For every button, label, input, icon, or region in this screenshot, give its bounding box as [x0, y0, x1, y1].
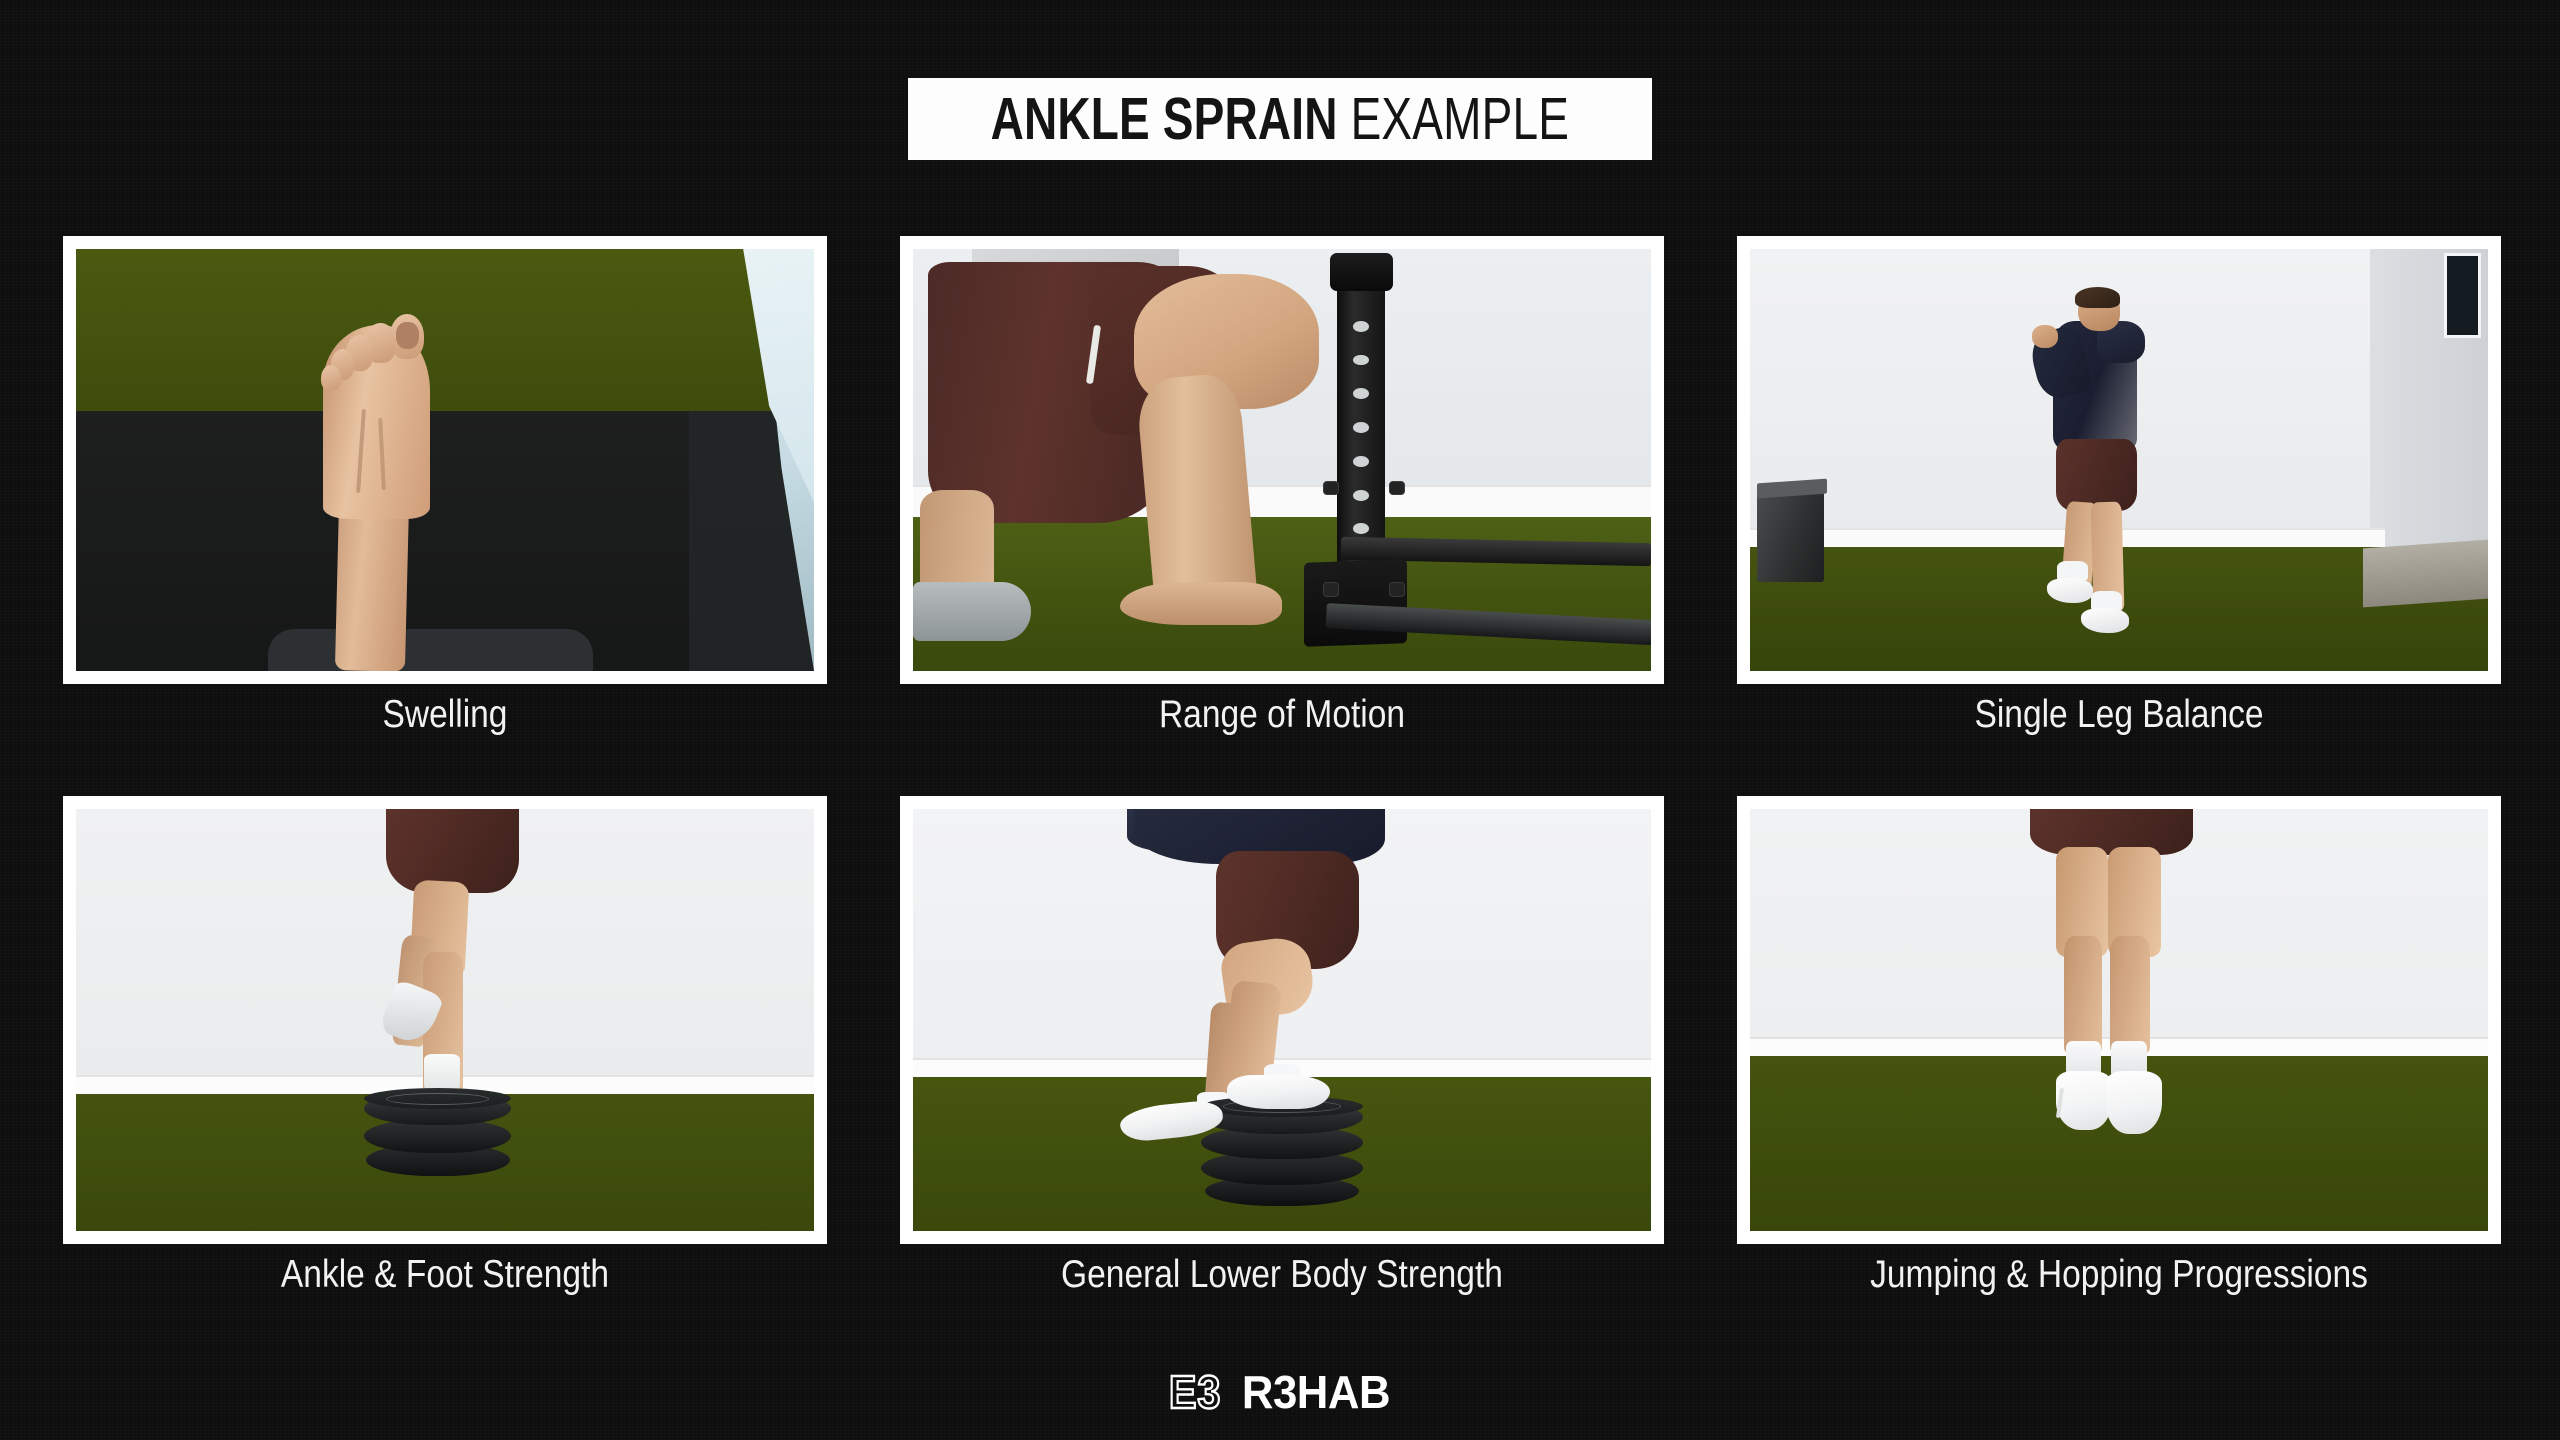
caption-range-of-motion: Range of Motion [953, 694, 1610, 737]
title-banner: ANKLE SPRAIN EXAMPLE [908, 78, 1652, 160]
page-title: ANKLE SPRAIN EXAMPLE [991, 90, 1569, 149]
rack-bolt [1323, 582, 1339, 596]
single-leg-balance-photo [1750, 249, 2488, 671]
grid-cell-range-of-motion[interactable]: Range of Motion [900, 236, 1664, 706]
example-grid: Swelling [63, 236, 2497, 1266]
page-title-light: EXAMPLE [1351, 86, 1569, 152]
jumping-hopping-progressions-photo [1750, 809, 2488, 1231]
caption-swelling: Swelling [116, 694, 773, 737]
caption-general-lower-body-strength: General Lower Body Strength [953, 1254, 1610, 1297]
right-shoe [2106, 1071, 2162, 1134]
rack-hole [1353, 321, 1369, 332]
front-foot [1120, 582, 1282, 624]
logo-r3hab-wordmark: R3HAB [1242, 1365, 1390, 1419]
caption-ankle-foot-strength: Ankle & Foot Strength [116, 1254, 773, 1297]
rack-hole [1353, 456, 1369, 467]
photo-frame [63, 236, 827, 684]
rack-foot [1304, 559, 1407, 647]
ankle-foot-strength-photo [76, 809, 814, 1231]
grid-cell-swelling[interactable]: Swelling [63, 236, 827, 706]
swelling-photo [76, 249, 814, 671]
caption-jumping-hopping-progressions: Jumping & Hopping Progressions [1790, 1254, 2447, 1297]
photo-frame [1737, 796, 2501, 1244]
weight-plate-label-ring [386, 1093, 489, 1106]
range-of-motion-photo [913, 249, 1651, 671]
rack-hole [1353, 422, 1369, 433]
grid-cell-jumping-hopping-progressions[interactable]: Jumping & Hopping Progressions [1737, 796, 2501, 1266]
photo-frame [1737, 236, 2501, 684]
hand [2032, 325, 2059, 348]
maroon-shorts [2056, 439, 2137, 511]
support-pad [268, 629, 593, 671]
left-shoe [2056, 1071, 2111, 1130]
logo-e3-mark: E3 [1169, 1365, 1221, 1419]
general-lower-body-strength-photo [913, 809, 1651, 1231]
grid-cell-single-leg-balance[interactable]: Single Leg Balance [1737, 236, 2501, 706]
grid-cell-general-lower-body-strength[interactable]: General Lower Body Strength [900, 796, 1664, 1266]
rack-bolt [1389, 481, 1405, 495]
photo-frame [63, 796, 827, 1244]
photo-frame [900, 236, 1664, 684]
grid-cell-ankle-foot-strength[interactable]: Ankle & Foot Strength [63, 796, 827, 1266]
photo-frame [900, 796, 1664, 1244]
rack-bolt [1323, 481, 1339, 495]
rack-bolt [1389, 582, 1405, 596]
maroon-shorts [2030, 809, 2192, 855]
plyo-box [1757, 485, 1823, 582]
window [2444, 253, 2481, 337]
rack-hole [1353, 490, 1369, 501]
foam-roller [913, 582, 1031, 641]
little-toe [321, 365, 341, 391]
floor-ledge [2363, 540, 2488, 608]
hair [2075, 287, 2121, 308]
right-calf [2110, 936, 2150, 1054]
toenail [396, 322, 419, 348]
turf-background [76, 249, 814, 414]
page-title-bold: ANKLE SPRAIN [991, 86, 1338, 152]
rack-top-plate [1330, 253, 1393, 291]
brand-logo: E3 R3HAB [0, 1365, 2560, 1419]
left-calf [2064, 936, 2102, 1054]
shoe-front [1227, 1075, 1330, 1109]
caption-single-leg-balance: Single Leg Balance [1790, 694, 2447, 737]
